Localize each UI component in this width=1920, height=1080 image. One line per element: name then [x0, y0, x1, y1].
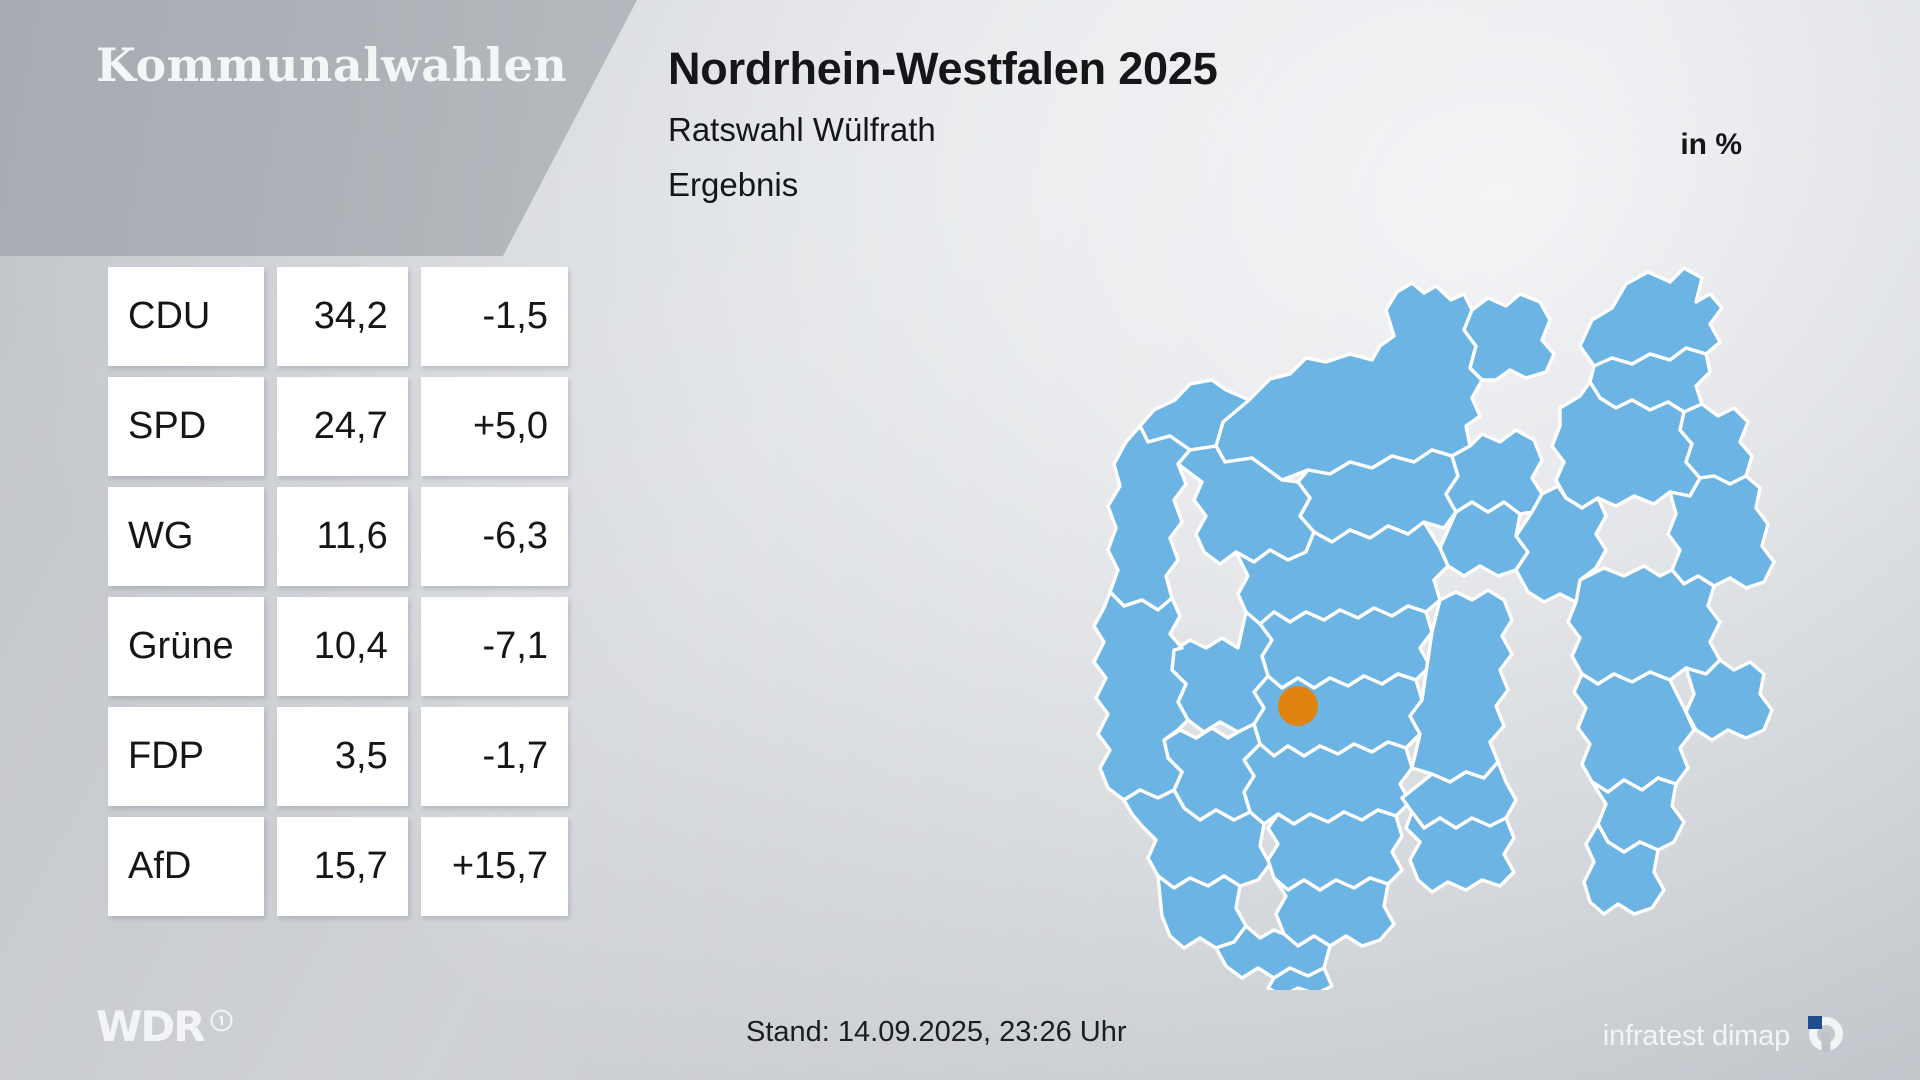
row-result-value: 10,4	[277, 597, 408, 696]
row-party-label: FDP	[108, 707, 264, 806]
map-region	[1108, 426, 1190, 610]
status-timestamp: Stand: 14.09.2025, 23:26 Uhr	[746, 1016, 1127, 1049]
header: Nordrhein-Westfalen 2025 Ratswahl Wülfra…	[668, 46, 1218, 201]
map-region	[1216, 283, 1482, 480]
row-delta-value: -7,1	[421, 597, 568, 696]
results-table-body: CDU 34,2 -1,5 SPD 24,7 +5,0 WG 11,6 -6,3…	[108, 267, 568, 916]
row-party-label: CDU	[108, 267, 264, 366]
table-row: WG 11,6 -6,3	[108, 487, 568, 586]
pollster-name: infratest dimap	[1603, 1020, 1790, 1053]
ard-one-icon	[210, 1009, 233, 1037]
row-party-label: WG	[108, 487, 264, 586]
map-region	[1172, 612, 1272, 732]
row-delta-value: -1,7	[421, 707, 568, 806]
row-result-value: 3,5	[277, 707, 408, 806]
election-result-graphic: Kommunalwahlen Nordrhein-Westfalen 2025 …	[0, 0, 1920, 1080]
header-election-name: Ratswahl Wülfrath	[668, 113, 1218, 146]
map-svg	[1020, 250, 1830, 990]
table-row: Grüne 10,4 -7,1	[108, 597, 568, 696]
row-delta-value: -1,5	[421, 267, 568, 366]
row-result-value: 24,7	[277, 377, 408, 476]
wdr-wordmark: WDR	[96, 1006, 204, 1048]
wdr-logo: WDR	[96, 1006, 233, 1048]
header-view-name: Ergebnis	[668, 168, 1218, 201]
row-delta-value: +15,7	[421, 817, 568, 916]
unit-label: in %	[1680, 128, 1742, 162]
map-region	[1464, 294, 1554, 380]
row-result-value: 11,6	[277, 487, 408, 586]
header-region-year: Nordrhein-Westfalen 2025	[668, 46, 1218, 91]
dimap-logo-icon	[1804, 1012, 1848, 1061]
map-region	[1568, 566, 1720, 684]
row-result-value: 34,2	[277, 267, 408, 366]
map-region	[1094, 592, 1188, 800]
table-row: AfD 15,7 +15,7	[108, 817, 568, 916]
map-regions	[1094, 268, 1774, 990]
table-row: CDU 34,2 -1,5	[108, 267, 568, 366]
map-region	[1158, 876, 1246, 948]
map-region	[1406, 812, 1514, 892]
pollster-credit: infratest dimap	[1603, 1012, 1848, 1061]
map-region	[1274, 878, 1394, 946]
row-party-label: Grüne	[108, 597, 264, 696]
results-table: CDU 34,2 -1,5 SPD 24,7 +5,0 WG 11,6 -6,3…	[95, 256, 581, 927]
row-party-label: SPD	[108, 377, 264, 476]
row-delta-value: -6,3	[421, 487, 568, 586]
page-title: Kommunalwahlen	[96, 38, 567, 92]
row-result-value: 15,7	[277, 817, 408, 916]
table-row: SPD 24,7 +5,0	[108, 377, 568, 476]
row-delta-value: +5,0	[421, 377, 568, 476]
wuelfrath-location-marker	[1278, 686, 1318, 726]
map-region	[1268, 810, 1402, 890]
map-region	[1574, 672, 1694, 792]
nordrhein-westfalen-map	[1020, 250, 1830, 990]
row-party-label: AfD	[108, 817, 264, 916]
table-row: FDP 3,5 -1,7	[108, 707, 568, 806]
map-region	[1686, 660, 1772, 740]
